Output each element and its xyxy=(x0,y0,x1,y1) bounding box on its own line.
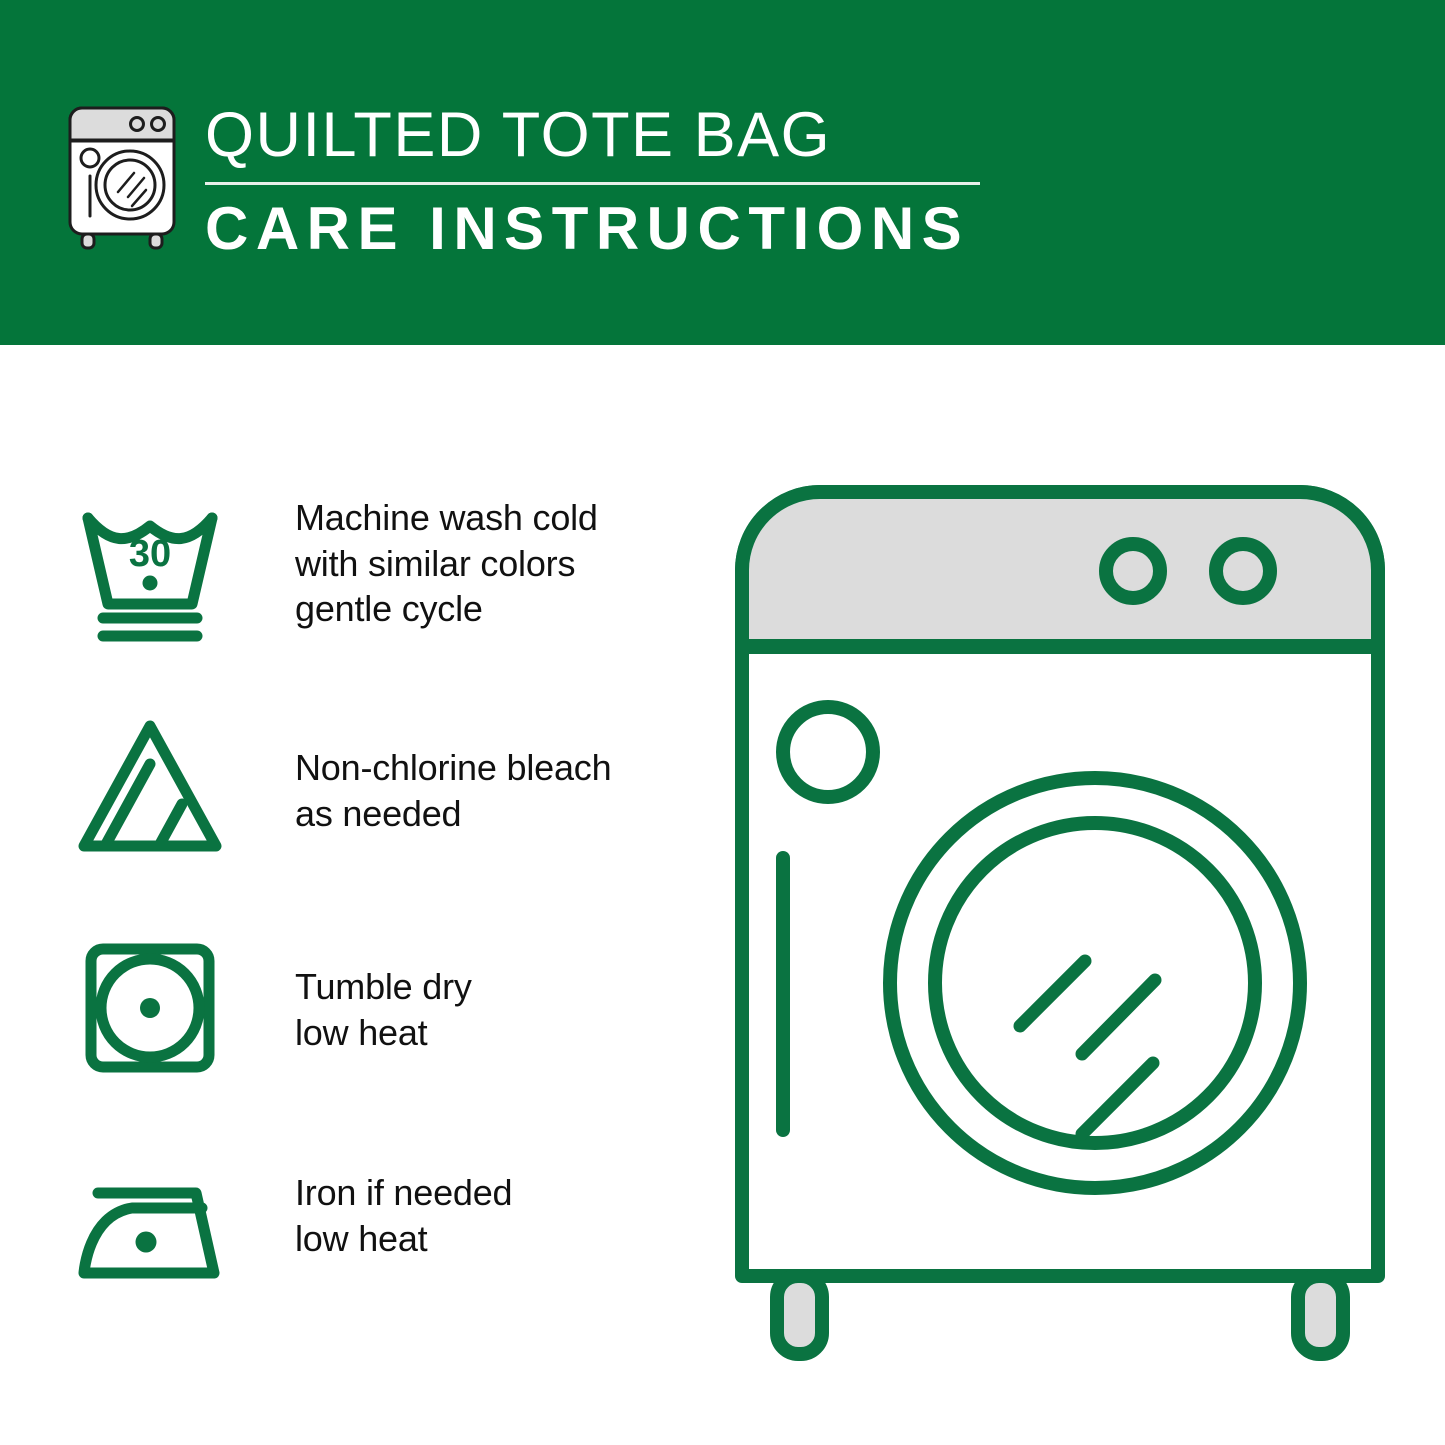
washing-machine-logo-icon xyxy=(62,100,182,250)
care-item-tumble-dry: Tumble dry low heat xyxy=(70,930,680,1085)
tumble-dry-icon xyxy=(70,930,230,1085)
care-item-wash: 30 Machine wash cold with similar colors… xyxy=(70,493,680,648)
washer-leg xyxy=(1298,1276,1343,1354)
wash-temperature-label: 30 xyxy=(129,533,171,575)
page-title: QUILTED TOTE BAG xyxy=(205,104,995,167)
bleach-triangle-icon xyxy=(70,707,230,862)
care-item-tumble-dry-label: Tumble dry low heat xyxy=(295,930,472,1055)
care-item-iron-label: Iron if needed low heat xyxy=(295,1150,512,1261)
care-line: low heat xyxy=(295,1216,512,1262)
care-line: Tumble dry xyxy=(295,964,472,1010)
washing-machine-illustration xyxy=(730,480,1390,1370)
washer-control-panel xyxy=(742,492,1378,646)
care-line: Machine wash cold xyxy=(295,495,598,541)
iron-icon xyxy=(70,1150,230,1305)
care-line: Iron if needed xyxy=(295,1170,512,1216)
title-divider xyxy=(205,182,980,185)
wash-tub-icon: 30 xyxy=(70,493,230,648)
care-line: with similar colors xyxy=(295,541,598,587)
header-text-block: QUILTED TOTE BAG CARE INSTRUCTIONS xyxy=(205,104,995,259)
care-item-bleach: Non-chlorine bleach as needed xyxy=(70,707,680,862)
page-subtitle: CARE INSTRUCTIONS xyxy=(205,199,995,259)
page-header: QUILTED TOTE BAG CARE INSTRUCTIONS xyxy=(0,0,1445,345)
washer-leg xyxy=(777,1276,822,1354)
care-line: low heat xyxy=(295,1010,472,1056)
care-instructions-page: QUILTED TOTE BAG CARE INSTRUCTIONS 30 xyxy=(0,0,1445,1445)
care-item-iron: Iron if needed low heat xyxy=(70,1150,680,1305)
care-item-wash-label: Machine wash cold with similar colors ge… xyxy=(295,493,598,632)
care-item-bleach-label: Non-chlorine bleach as needed xyxy=(295,707,611,836)
care-line: as needed xyxy=(295,791,611,837)
care-line: Non-chlorine bleach xyxy=(295,745,611,791)
care-symbol-list: 30 Machine wash cold with similar colors… xyxy=(0,345,700,1445)
care-line: gentle cycle xyxy=(295,586,598,632)
